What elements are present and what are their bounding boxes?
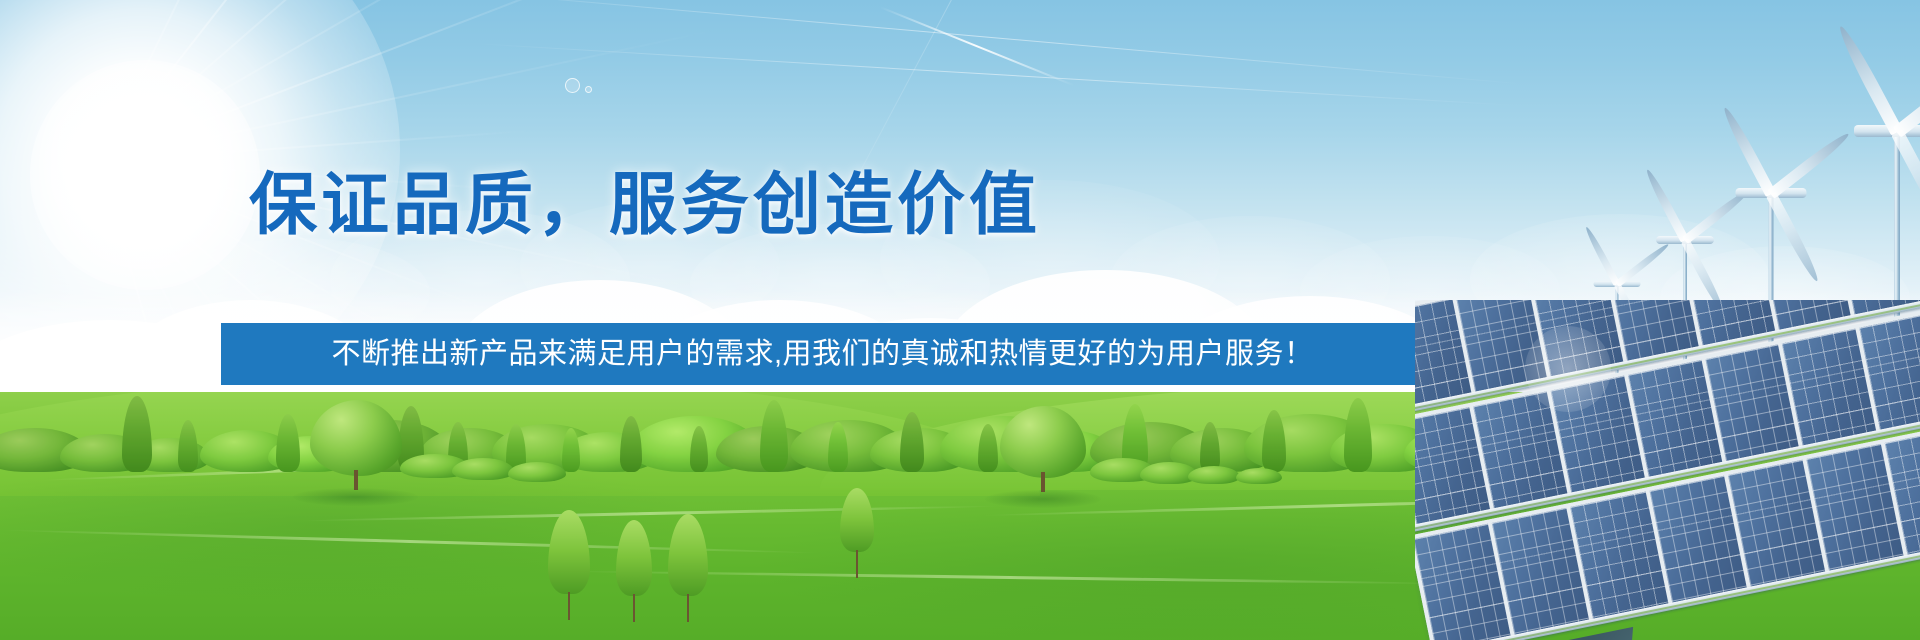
- sapling-crown: [616, 520, 652, 596]
- sapling-crown: [668, 514, 708, 596]
- solar-cell-block: [1473, 391, 1567, 508]
- subtitle-text: 不断推出新产品来满足用户的需求,用我们的真诚和热情更好的为用户服务！: [331, 337, 1313, 371]
- lens-flare-dot: [565, 78, 580, 93]
- tree-shadow: [293, 488, 417, 506]
- subtitle-bar: 不断推出新产品来满足用户的需求,用我们的真诚和热情更好的为用户服务！: [221, 323, 1424, 385]
- tree-crown: [1000, 406, 1086, 478]
- page-title: 保证品质，服务创造价值: [0, 168, 1290, 242]
- sapling-crown: [840, 488, 874, 552]
- midfield-shrub: [1188, 466, 1240, 484]
- hero-banner: 保证品质，服务创造价值 不断推出新产品来满足用户的需求,用我们的真诚和热情更好的…: [0, 0, 1920, 640]
- solar-cell-block: [1550, 376, 1644, 493]
- sapling-tree: [840, 488, 874, 578]
- sapling-trunk: [633, 594, 635, 622]
- airplane-contrail-icon: [879, 6, 1074, 87]
- tree-shadow: [985, 490, 1101, 508]
- solar-array-rows: [1415, 300, 1920, 640]
- sapling-trunk: [568, 592, 570, 620]
- lens-flare-dot: [585, 86, 592, 93]
- sapling-trunk: [687, 594, 689, 622]
- solar-cell-block: [1705, 344, 1799, 461]
- sapling-tree: [616, 520, 652, 622]
- solar-cell-block: [1782, 329, 1876, 446]
- foreground-tree: [1000, 406, 1086, 496]
- tree-crown: [310, 400, 402, 476]
- turbine-blade: [1893, 53, 1920, 137]
- solar-cell-block: [1628, 360, 1722, 477]
- sapling-tree: [548, 510, 590, 620]
- foreground-tree: [310, 400, 402, 494]
- sapling-trunk: [856, 550, 858, 578]
- midfield-shrub: [452, 458, 514, 480]
- sapling-tree: [668, 514, 708, 622]
- midfield-shrub: [1236, 468, 1282, 484]
- turbine-blade: [1835, 23, 1903, 135]
- tree-trunk: [1041, 472, 1045, 492]
- midfield-shrub: [508, 462, 566, 482]
- solar-panel-array: [1415, 300, 1920, 640]
- tree-trunk: [354, 470, 358, 490]
- solar-cell-block: [1456, 300, 1547, 392]
- sapling-crown: [548, 510, 590, 594]
